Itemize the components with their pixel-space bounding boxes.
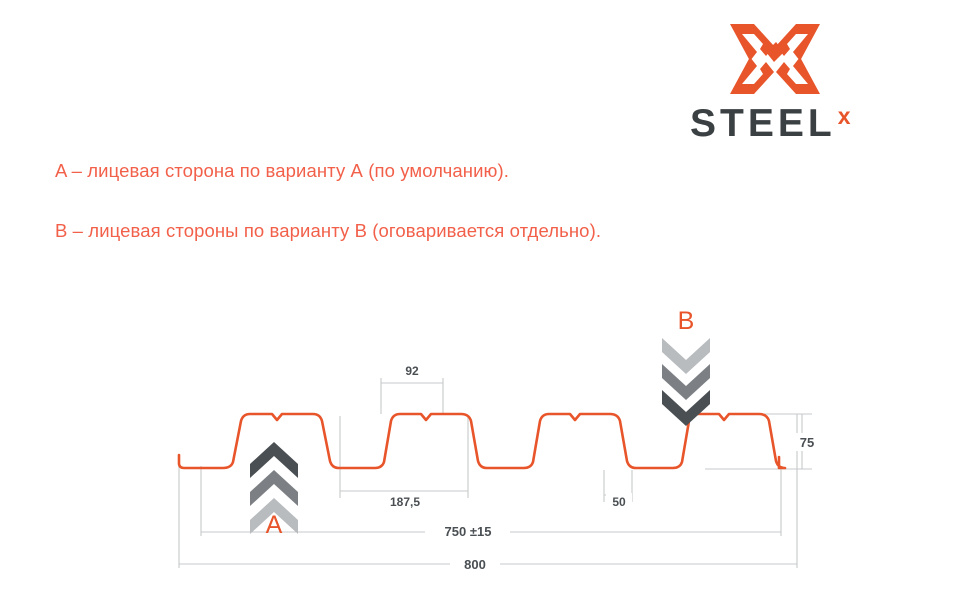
steelx-x-mark-icon (730, 22, 820, 96)
profile-technical-drawing: 92 75 187,5 50 750 ±15 800 A (0, 290, 970, 590)
marker-a-letter: A (266, 511, 283, 539)
page-root: STEEL x A – лицевая сторона по варианту … (0, 0, 970, 597)
marker-b-icon: B (662, 307, 710, 426)
dim-label-50: 50 (612, 495, 626, 509)
note-variant-b: B – лицевая стороны по варианту B (огова… (55, 220, 601, 242)
marker-b-letter: B (678, 307, 695, 335)
dim-label-92: 92 (405, 364, 419, 378)
note-variant-a: A – лицевая сторона по варианту А (по ум… (55, 160, 509, 182)
dim-label-75: 75 (800, 435, 814, 450)
dim-label-750: 750 ±15 (445, 524, 492, 539)
steelx-logo: STEEL x (690, 22, 910, 142)
profile-outline-path (179, 414, 785, 468)
dimension-labels: 92 75 187,5 50 750 ±15 800 (382, 362, 818, 572)
logo-steel-text: STEEL (690, 104, 836, 143)
marker-a-icon: A (250, 442, 298, 539)
dim-label-187-5: 187,5 (390, 495, 420, 509)
dim-label-800: 800 (464, 557, 486, 572)
steelx-wordmark: STEEL x (690, 104, 910, 144)
logo-x-superscript: x (838, 105, 851, 128)
